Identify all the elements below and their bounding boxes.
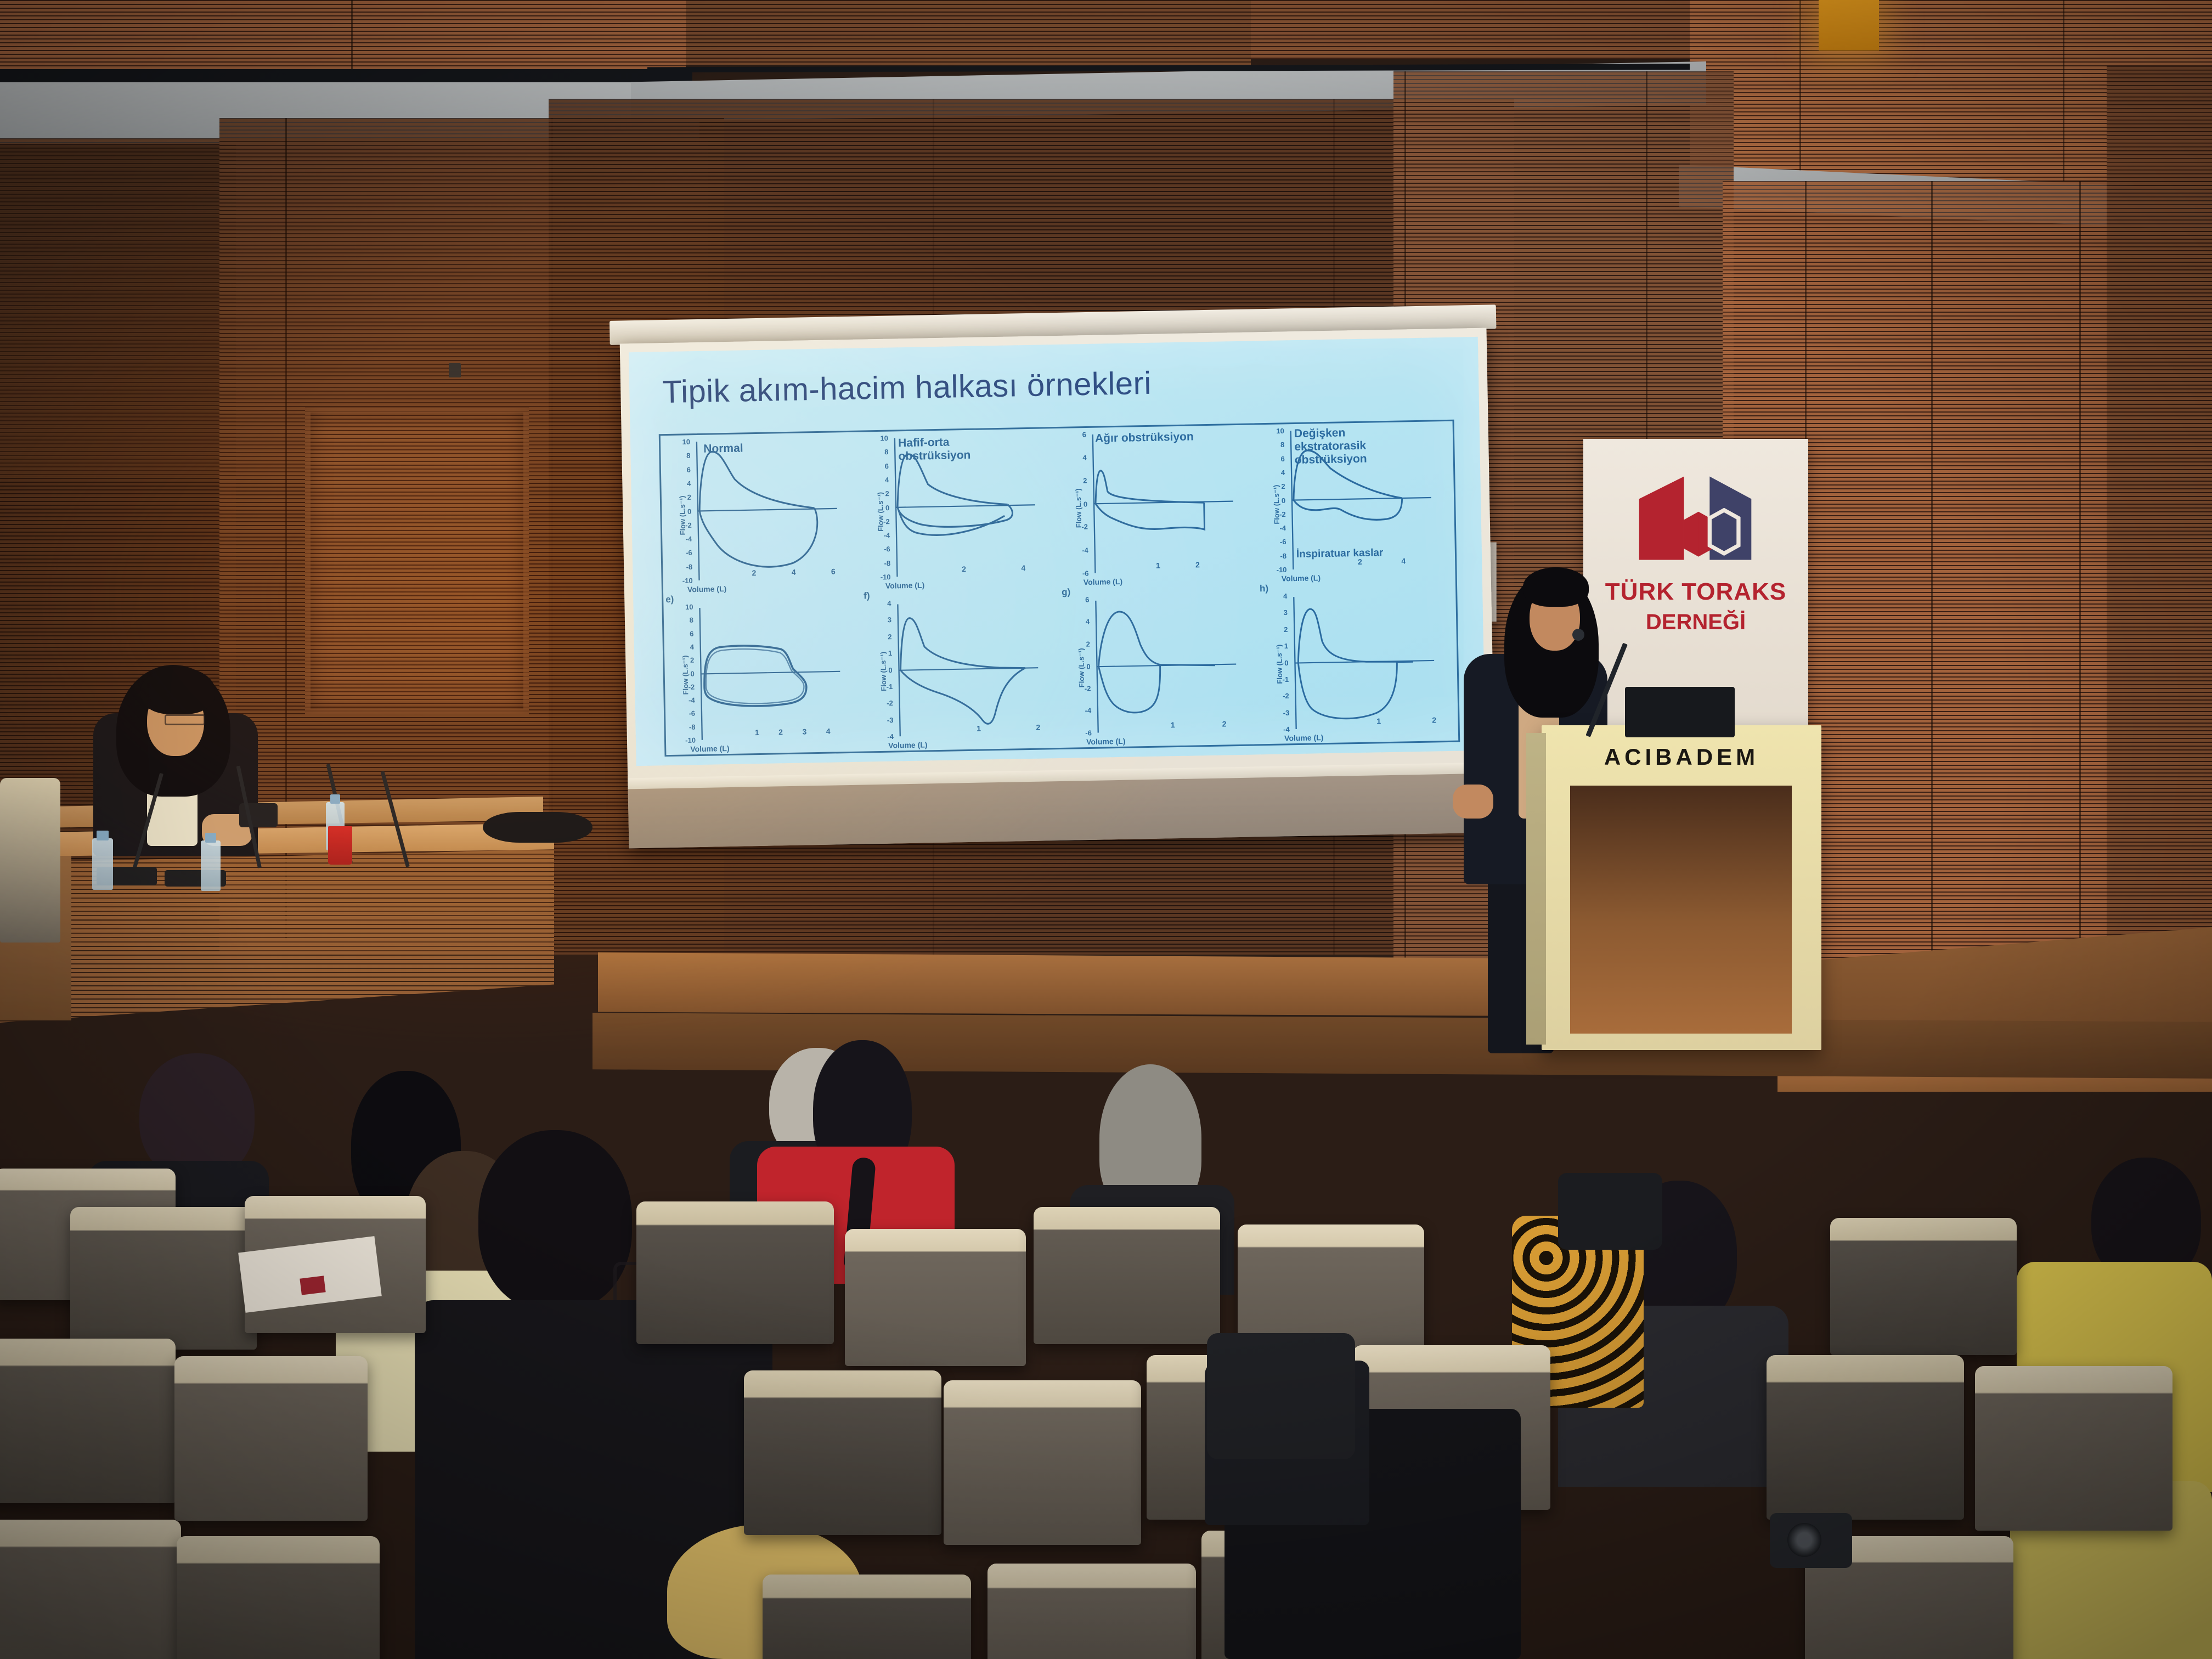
chart-panel-a: Flow (L.s⁻¹) 108 64 20 -2-4 -6-8 -10 Nor…: [661, 432, 861, 596]
slide-chart-frame: Flow (L.s⁻¹) 108 64 20 -2-4 -6-8 -10 Nor…: [659, 420, 1460, 757]
seat-front-3[interactable]: [763, 1575, 971, 1659]
screen-surface: Tipik akım-hacim halkası örnekleri Flow …: [620, 328, 1496, 849]
chart-d-xlabel: Volume (L): [1282, 573, 1321, 583]
seat-mid-1[interactable]: [0, 1339, 176, 1503]
chart-f-yticks: 43 21 0-1 -2-3 -4: [873, 603, 895, 737]
stage-door[interactable]: [305, 407, 529, 714]
seat-back-4[interactable]: [636, 1201, 834, 1344]
camera-lens-icon: [1787, 1523, 1821, 1557]
chart-h-plot: [1290, 594, 1454, 729]
red-cup[interactable]: [328, 826, 352, 865]
chart-e-xlabel: Volume (L): [690, 744, 730, 753]
seat-front-1[interactable]: [0, 1520, 181, 1659]
panel-table-front: [0, 849, 554, 1023]
chart-g-label: g): [1062, 587, 1070, 598]
bottle-cap-1: [97, 831, 109, 840]
chart-row-top: Flow (L.s⁻¹) 108 64 20 -2-4 -6-8 -10 Nor…: [661, 421, 1455, 595]
stage-monitor: [483, 812, 592, 843]
chart-e-xtick-2: 2: [778, 727, 783, 736]
ceiling-shadow-band: [0, 69, 692, 82]
chart-row-bottom: e) Flow (L.s⁻¹) 108 64 20 -2-4 -6-8 -10: [663, 581, 1458, 755]
moderator-chair: [0, 778, 60, 943]
chart-g-plot: [1092, 597, 1256, 732]
chart-e-label: e): [665, 594, 674, 605]
chart-b-xtick-2: 2: [962, 565, 966, 573]
chart-h-yticks: 43 21 0-1 -2-3 -4: [1269, 596, 1291, 730]
chart-f-xlabel: Volume (L): [888, 740, 928, 749]
speaker-hand: [1453, 785, 1493, 819]
water-bottle-1[interactable]: [92, 838, 113, 890]
chart-panel-g: g) Flow (L.s⁻¹) 64 20 -2-4 -6: [1059, 584, 1260, 748]
chart-b-plot: [891, 435, 1056, 577]
podium-mic-capsule: [1572, 629, 1584, 641]
ceiling-wood-panel-left: [0, 0, 686, 72]
chart-panel-h: h) Flow (L.s⁻¹) 43 21 0-1 -2-3 -4: [1257, 581, 1458, 744]
podium-brand-text: ACIBADEM: [1542, 744, 1821, 770]
chart-h-xtick-1: 1: [1376, 716, 1381, 725]
chart-d-yticks: 108 64 20 -2-4 -6-8 -10: [1267, 431, 1289, 570]
chart-b-yticks: 108 64 20 -2-4 -6-8 -10: [871, 438, 893, 578]
ceiling-light-slot: [1819, 0, 1879, 50]
chart-h-xtick-2: 2: [1432, 715, 1436, 724]
seat-mid-7[interactable]: [1767, 1355, 1964, 1520]
podium-left-face: [1526, 733, 1546, 1045]
chart-c-xlabel: Volume (L): [1084, 577, 1123, 586]
podium-wood-inset: [1570, 786, 1792, 1034]
speaker-fringe: [1523, 567, 1589, 607]
chart-c-plot: [1090, 431, 1254, 573]
chart-b-xtick-4: 4: [1021, 563, 1025, 572]
chart-e-xtick-1: 1: [755, 728, 759, 737]
seat-back-8[interactable]: [1830, 1218, 2017, 1355]
chart-a-xtick-6: 6: [831, 567, 836, 575]
seat-front-4[interactable]: [988, 1564, 1196, 1659]
chart-a-yticks: 108 64 20 -2-4 -6-8 -10: [673, 442, 695, 581]
door-sensor-icon: [449, 363, 461, 377]
slide-title: Tipik akım-hacim halkası örnekleri: [662, 365, 1152, 410]
lecture-hall-photo: M Tipik akım-hacim halkası örnekleri Flo…: [0, 0, 2212, 1659]
right-corner-wall: [2107, 66, 2212, 1053]
chart-e-xtick-4: 4: [826, 727, 831, 736]
podium-laptop[interactable]: [1625, 687, 1735, 737]
chart-b-xlabel: Volume (L): [885, 580, 925, 590]
seat-mid-2[interactable]: [174, 1356, 368, 1521]
chart-panel-e: e) Flow (L.s⁻¹) 108 64 20 -2-4 -6-8 -10: [663, 592, 864, 755]
ceiling-wood-panel-right: [1251, 0, 1690, 59]
chart-e-yticks: 108 64 20 -2-4 -6-8 -10: [676, 607, 698, 741]
bag-on-seat-right: [1207, 1333, 1355, 1459]
seat-mid-3[interactable]: [744, 1370, 941, 1535]
chart-panel-f: f) Flow (L.s⁻¹) 43 21 0-1 -2-3 -4: [861, 588, 1062, 752]
chart-a-xlabel: Volume (L): [687, 584, 727, 594]
chart-panel-c: Flow (L.s⁻¹) 64 20 -2-4 -6 Ağır obstrüks…: [1057, 425, 1257, 588]
projected-slide: Tipik akım-hacim halkası örnekleri Flow …: [629, 337, 1486, 766]
moderator-glasses-icon: [165, 714, 205, 725]
chart-e-xtick-3: 3: [802, 727, 806, 736]
chart-a-xtick-2: 2: [752, 568, 756, 577]
chart-f-label: f): [864, 590, 870, 601]
chart-h-xlabel: Volume (L): [1284, 733, 1324, 742]
chart-d-xtick-4: 4: [1401, 556, 1406, 565]
seat-back-6[interactable]: [1034, 1207, 1220, 1344]
banner-line-1: TÜRK TORAKS: [1583, 578, 1808, 606]
projection-screen: Tipik akım-hacim halkası örnekleri Flow …: [620, 328, 1496, 849]
chart-panel-d: Flow (L.s⁻¹) 108 64 20 -2-4 -6-8 -10 Değ…: [1255, 421, 1455, 585]
seat-mid-8[interactable]: [1975, 1366, 2172, 1531]
chart-f-xtick-1: 1: [977, 724, 981, 733]
banner-line-2: DERNEĞİ: [1583, 610, 1808, 635]
chart-f-plot: [894, 601, 1058, 736]
audience-backpack: [1558, 1173, 1662, 1250]
chart-c-xtick-1: 1: [1156, 561, 1160, 570]
chart-g-xtick-2: 2: [1222, 719, 1227, 728]
chart-g-xlabel: Volume (L): [1086, 737, 1126, 746]
chart-panel-b: Flow (L.s⁻¹) 108 64 20 -2-4 -6-8 -10 Haf…: [859, 428, 1059, 592]
audience-head-mid-2: [478, 1130, 632, 1311]
chart-h-label: h): [1260, 583, 1268, 594]
seat-back-5[interactable]: [845, 1229, 1026, 1366]
chart-c-xtick-2: 2: [1195, 560, 1200, 569]
water-bottle-2[interactable]: [201, 840, 221, 891]
seat-mid-4[interactable]: [944, 1380, 1141, 1545]
chart-f-xtick-2: 2: [1036, 723, 1040, 732]
chart-a-xtick-4: 4: [792, 568, 796, 577]
bottle-cap-3: [330, 794, 340, 804]
seat-back-2[interactable]: [70, 1207, 257, 1350]
bottle-cap-2: [205, 833, 216, 843]
seat-front-2[interactable]: [177, 1536, 380, 1659]
turk-toraks-logo-icon: [1613, 465, 1778, 569]
ceiling-wood-panel-center: [686, 0, 1251, 65]
program-paper-mark: [300, 1276, 325, 1295]
chart-g-yticks: 64 20 -2-4 -6: [1071, 600, 1093, 733]
chart-d-annotation: İnspiratuar kaslar: [1296, 547, 1384, 561]
chart-a-plot: [693, 439, 858, 580]
chart-g-xtick-1: 1: [1171, 720, 1175, 729]
chart-e-plot: [697, 605, 861, 740]
chart-c-yticks: 64 20 -2-4 -6: [1069, 435, 1091, 574]
moderator-fringe: [140, 667, 215, 714]
